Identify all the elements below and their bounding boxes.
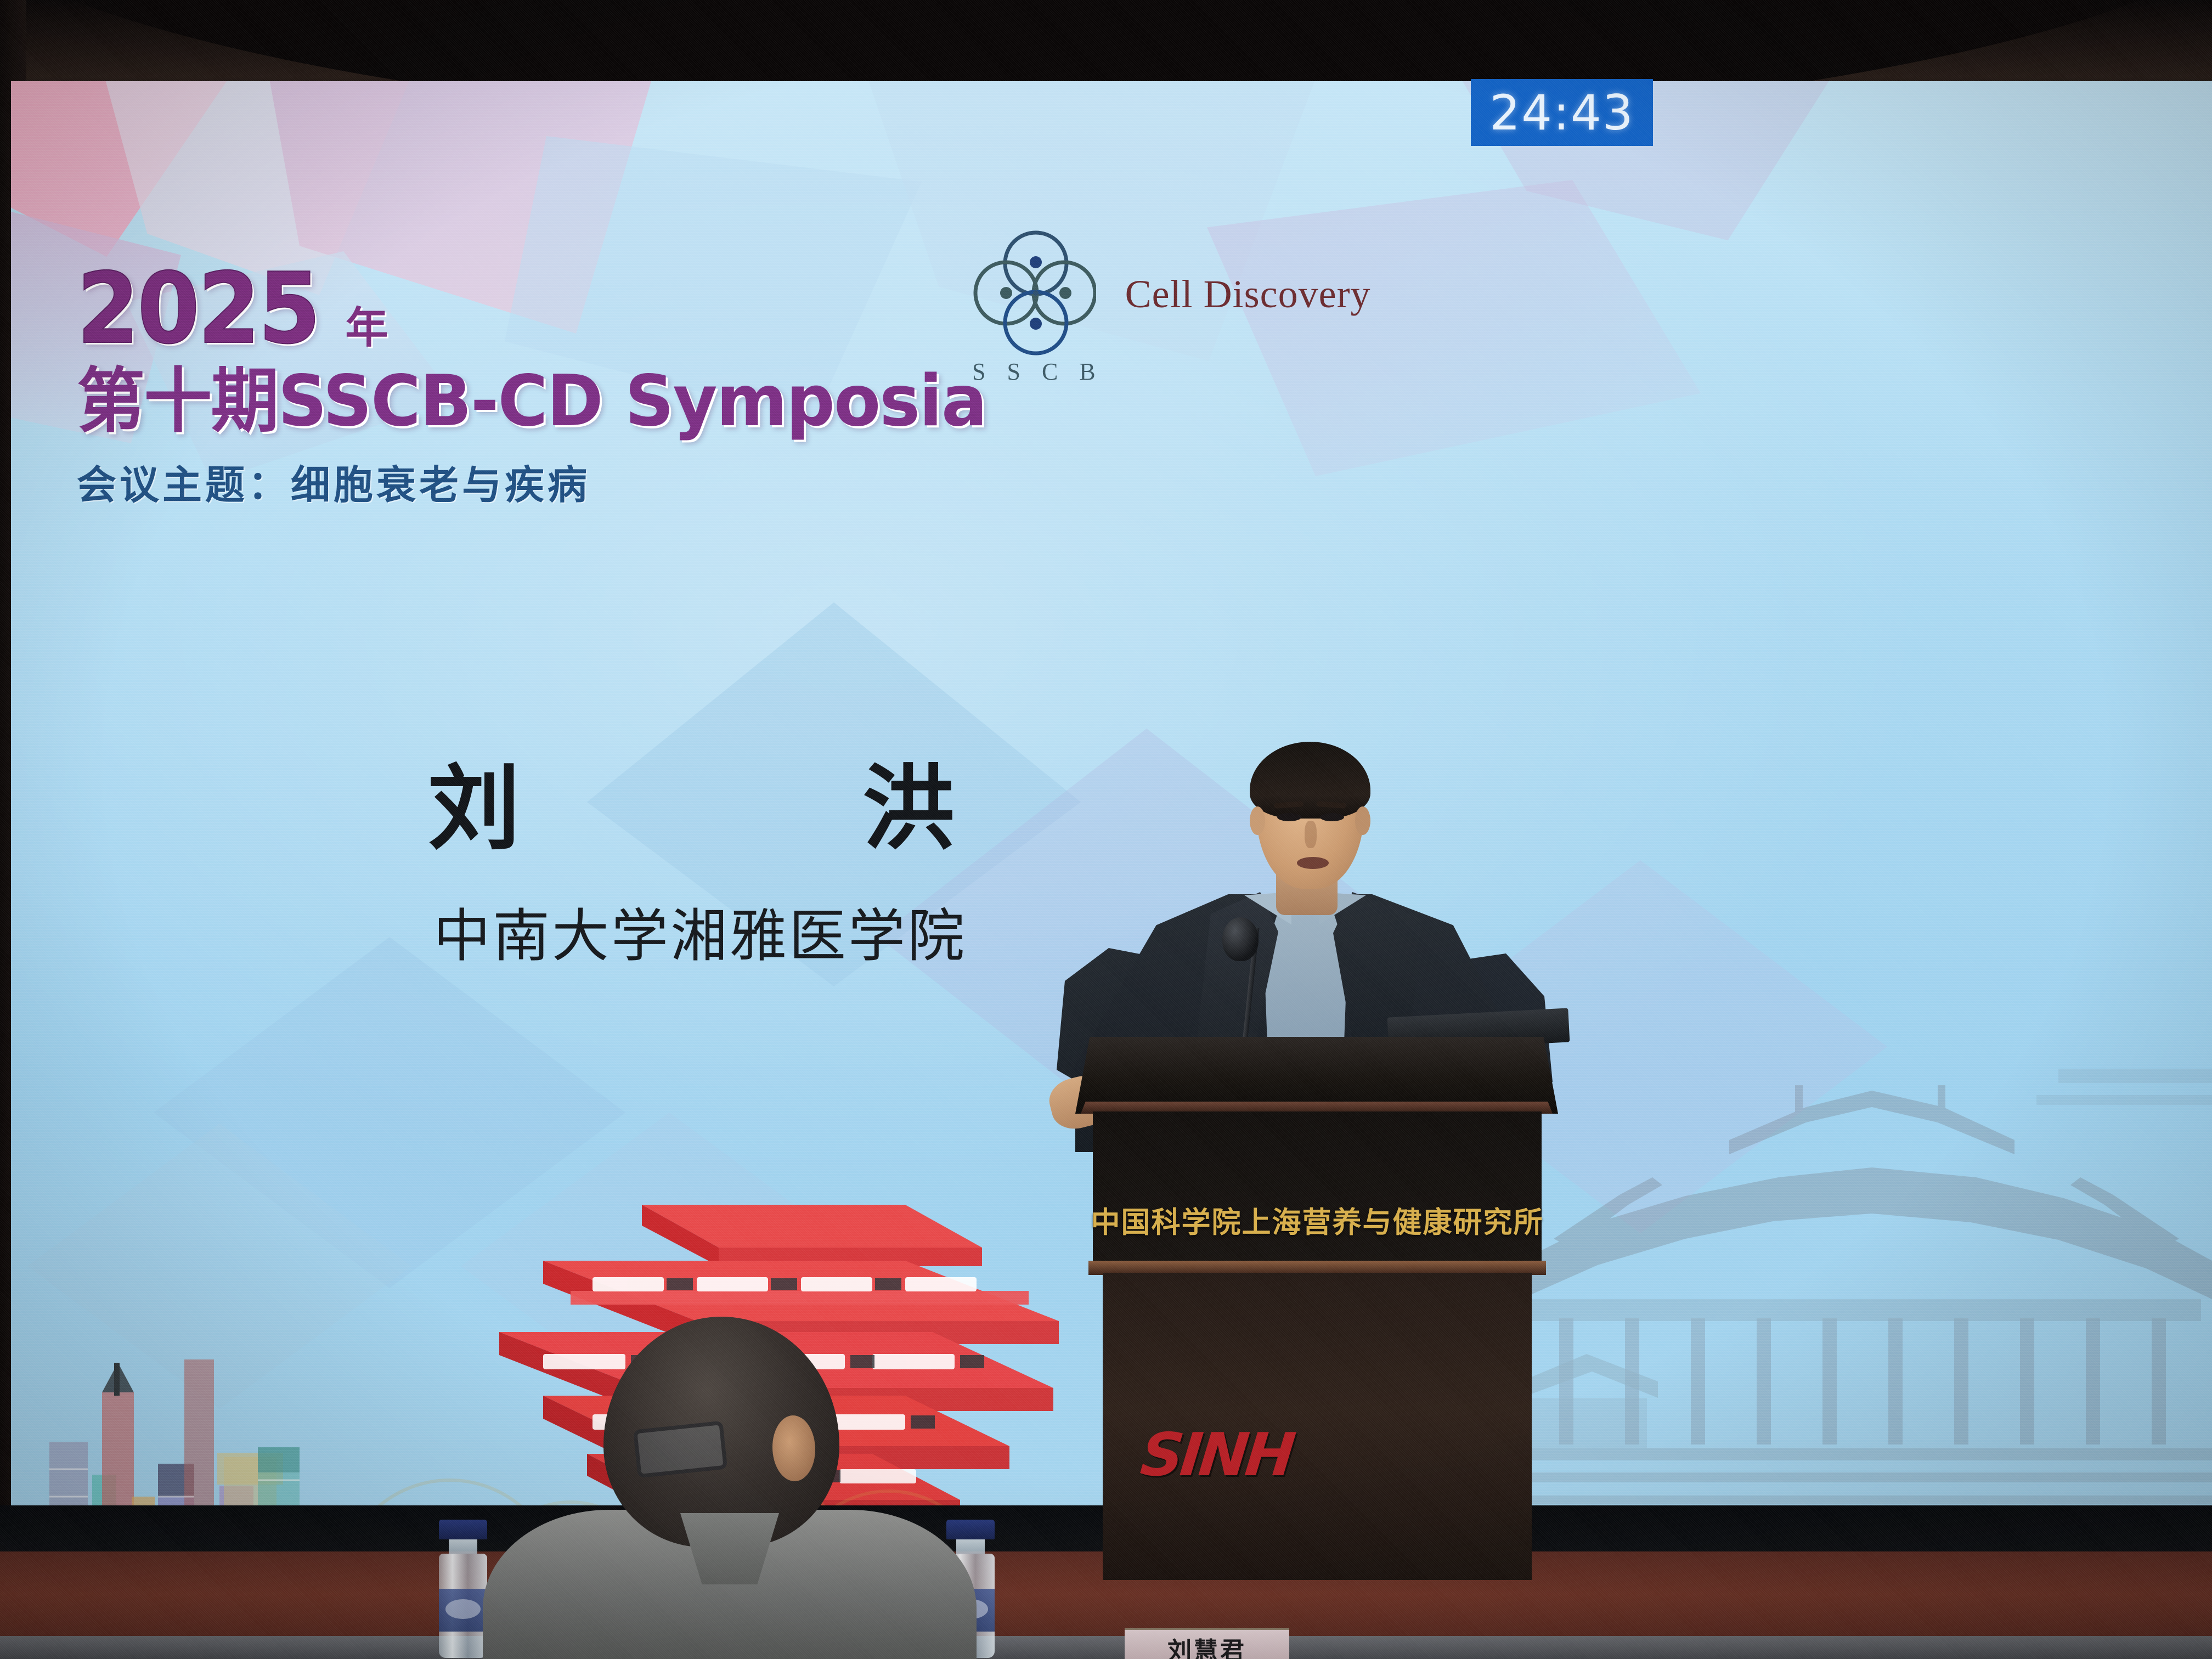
microphone-icon — [1222, 917, 1259, 961]
lectern-institute-text: 中国科学院上海营养与健康研究所 — [1091, 1199, 1544, 1241]
bottle-body — [439, 1554, 487, 1658]
countdown-timer-badge: 24:43 — [1471, 79, 1653, 146]
audience-ear — [772, 1415, 815, 1481]
table-nameplate: 刘慧君 — [1125, 1628, 1289, 1659]
bottle-cap — [946, 1520, 995, 1539]
speaker-eye-left — [1277, 813, 1301, 821]
speaker-eye-right — [1320, 813, 1344, 821]
bottle-label — [439, 1589, 487, 1632]
lectern-institute-plate: 中国科学院上海营养与健康研究所 — [1098, 1194, 1536, 1246]
bottle-cap — [439, 1520, 487, 1539]
photo-stage: 2025年 第十期SSCB-CD Symposia 会议主题：细胞衰老与疾病 — [0, 0, 2212, 1659]
lectern-body — [1093, 1111, 1542, 1271]
water-bottle — [439, 1520, 487, 1658]
countdown-timer-value: 24:43 — [1489, 84, 1634, 141]
lectern: 中国科学院上海营养与健康研究所 SINH — [1075, 1037, 1558, 1659]
speaker-mouth — [1297, 857, 1329, 869]
speaker-ear-left — [1250, 806, 1265, 835]
table-nameplate-text: 刘慧君 — [1167, 1631, 1246, 1659]
bottle-neck — [956, 1539, 985, 1554]
audience-glasses-icon — [633, 1421, 727, 1479]
speaker-nose — [1305, 821, 1317, 848]
speaker-hair — [1250, 742, 1370, 819]
sinh-logo-text: SINH — [1137, 1421, 1295, 1489]
audience-member-foreground — [516, 1317, 944, 1659]
speaker-ear-right — [1355, 806, 1370, 835]
bottle-neck — [449, 1539, 477, 1554]
